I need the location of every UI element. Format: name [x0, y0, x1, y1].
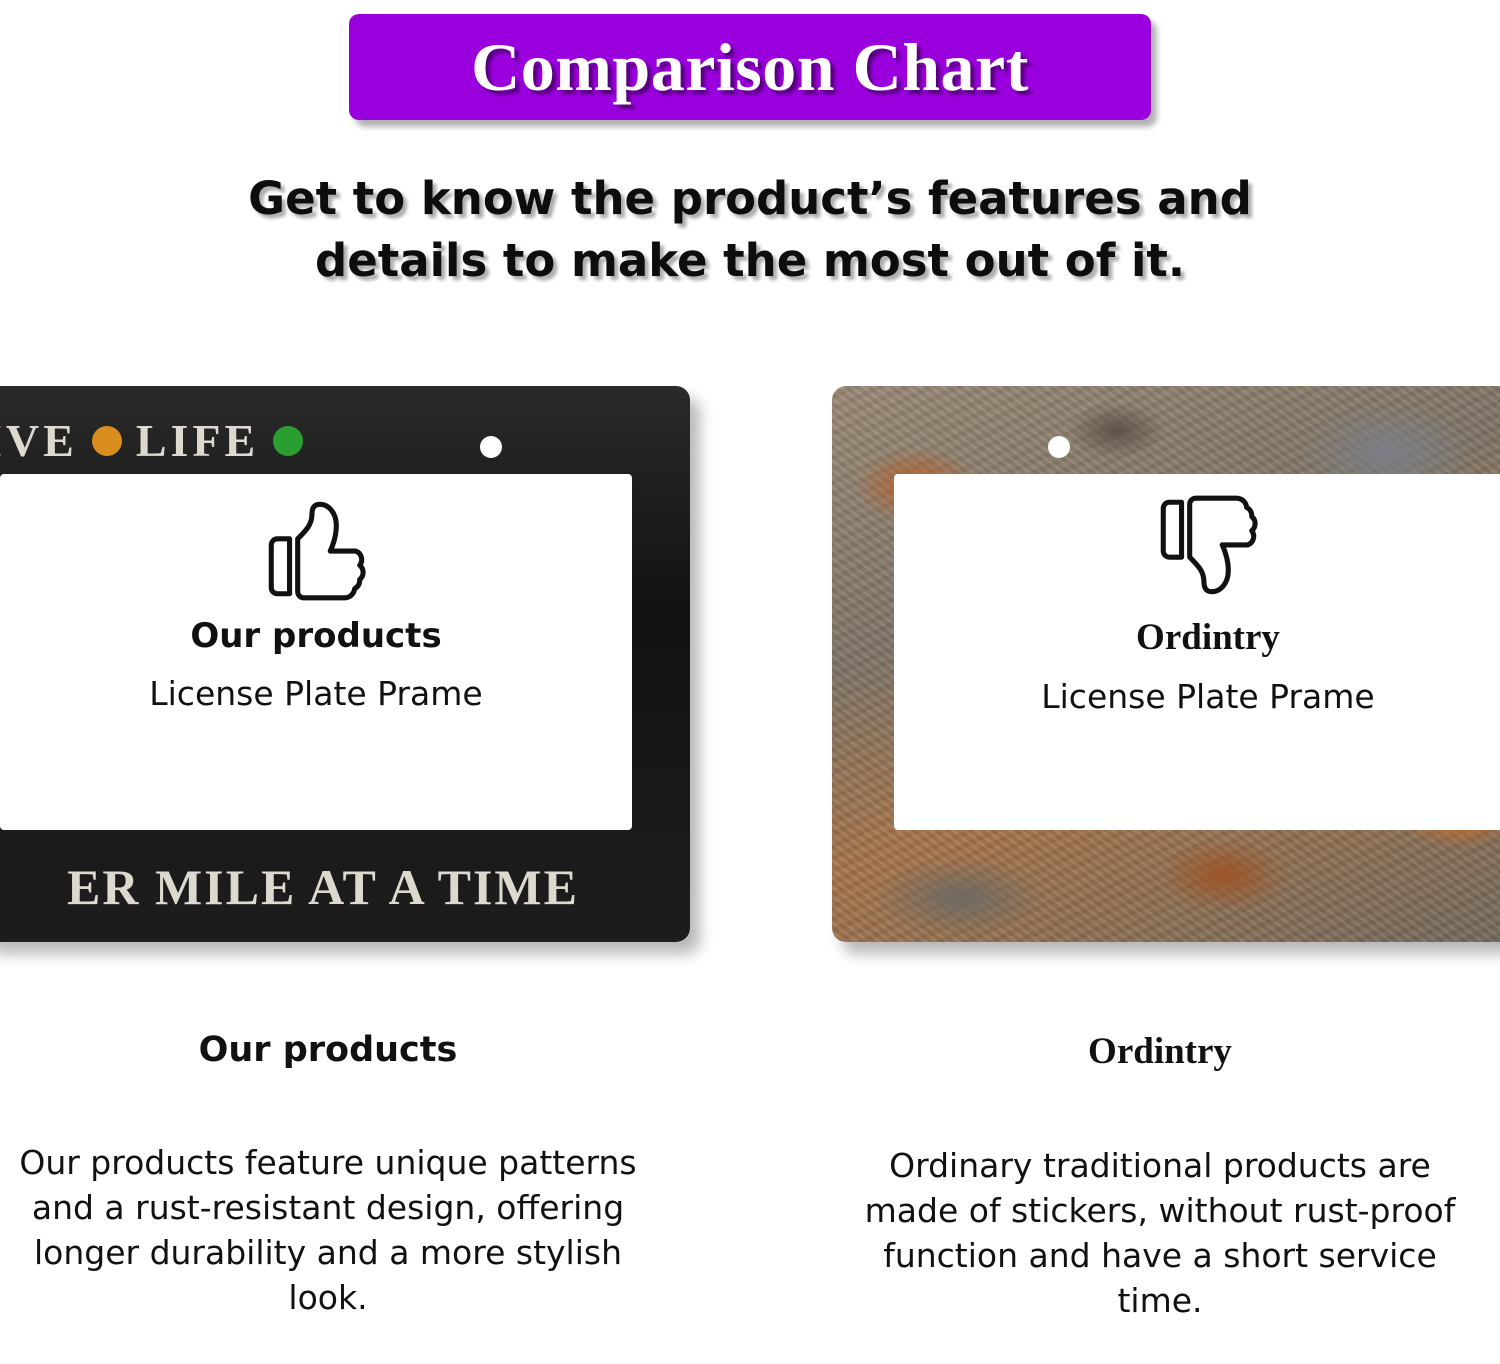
subtitle-line-1: Get to know the product’s features and	[0, 168, 1500, 230]
comparison-column-our-products: Our products Our products feature unique…	[8, 1030, 648, 1320]
window-title: Ordintry	[1136, 616, 1280, 659]
plate-bottom-text: ER MILE AT A TIME	[0, 858, 668, 916]
thumbs-down-icon	[1147, 492, 1269, 604]
comparison-title: Our products	[8, 1030, 648, 1070]
comparison-title: Ordintry	[840, 1030, 1480, 1073]
green-dot-icon	[273, 426, 303, 456]
window-title: Our products	[190, 616, 441, 656]
subtitle-line-2: details to make the most out of it.	[0, 230, 1500, 292]
page-subtitle: Get to know the product’s features and d…	[0, 168, 1500, 292]
product-panel-our-products: IVE LIFE ER MILE AT A TIME Our products …	[0, 386, 690, 942]
plate-window-our-products: Our products License Plate Prame	[0, 474, 632, 830]
product-panel-ordintry: Ordintry License Plate Prame	[832, 386, 1500, 942]
mounting-hole	[480, 436, 502, 458]
comparison-body: Our products feature unique patterns and…	[8, 1140, 648, 1320]
thumbs-up-icon	[255, 492, 377, 604]
window-subtitle: License Plate Prame	[1041, 677, 1374, 716]
comparison-chart-banner: Comparison Chart	[349, 14, 1151, 120]
plate-top-text: IVE LIFE	[0, 414, 458, 467]
comparison-body: Ordinary traditional products are made o…	[840, 1143, 1480, 1323]
plate-top-word-2: LIFE	[136, 414, 259, 467]
plate-top-word-1: IVE	[0, 414, 78, 467]
orange-dot-icon	[92, 426, 122, 456]
window-subtitle: License Plate Prame	[149, 674, 482, 713]
page-title: Comparison Chart	[471, 28, 1029, 107]
comparison-column-ordintry: Ordintry Ordinary traditional products a…	[840, 1030, 1480, 1323]
mounting-hole	[1048, 436, 1070, 458]
plate-window-ordintry: Ordintry License Plate Prame	[894, 474, 1500, 830]
